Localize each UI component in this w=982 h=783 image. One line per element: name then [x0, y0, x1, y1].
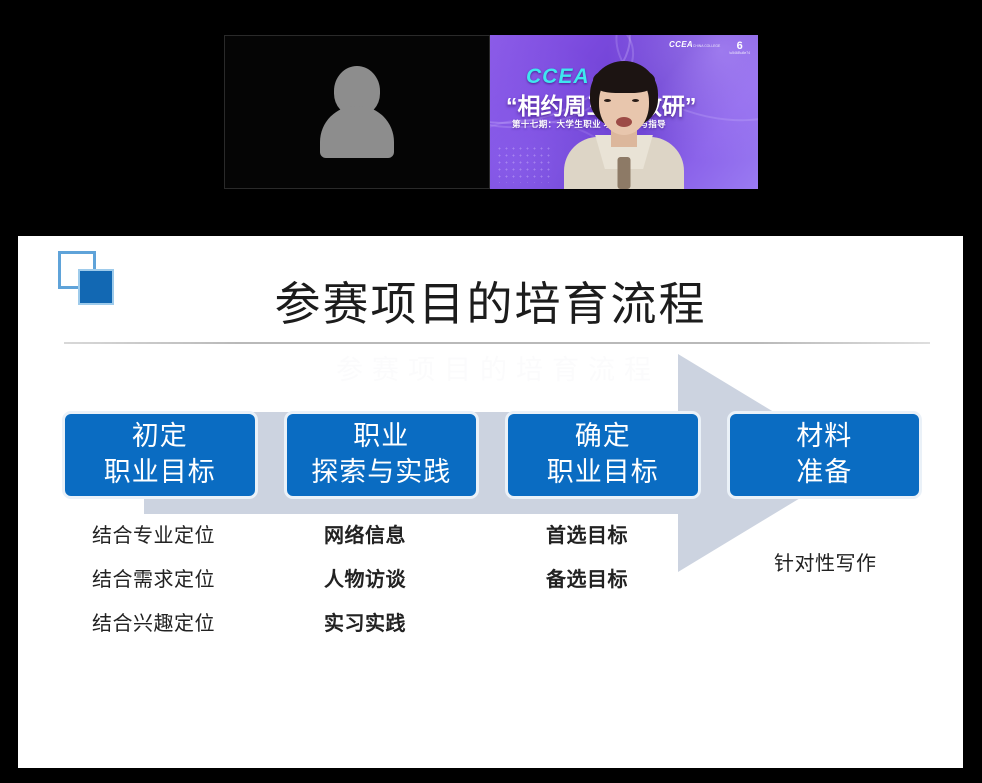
detail-item: 首选目标 — [546, 526, 628, 546]
person-avatar-icon — [320, 66, 394, 158]
step-details-column-4: 针对性写作 — [774, 554, 877, 598]
title-divider — [64, 342, 930, 344]
presenter-eye-right — [632, 99, 639, 102]
video-tile-self[interactable] — [224, 35, 490, 189]
process-step-4-line2: 准备 — [796, 455, 852, 491]
presenter-figure — [560, 61, 688, 189]
process-step-1[interactable]: 初定 职业目标 — [62, 411, 258, 499]
process-step-2-line1: 职业 — [353, 419, 409, 455]
slide-title: 参赛项目的培育流程 — [18, 268, 963, 334]
decorative-dot-grid — [496, 145, 552, 183]
presenter-tie — [618, 157, 631, 189]
detail-item: 针对性写作 — [774, 554, 877, 574]
process-step-2-line2: 探索与实践 — [311, 455, 451, 491]
presenter-mouth — [616, 117, 632, 127]
shared-slide-panel[interactable]: 参赛项目的培育流程 参赛项目的培育流程 初定 职业目标 职业 探索与实践 确定 … — [18, 236, 963, 768]
six-anniversary-icon: 6\u5468\u5e74 — [729, 41, 750, 55]
process-step-1-line2: 职业目标 — [104, 455, 216, 491]
process-step-3[interactable]: 确定 职业目标 — [505, 411, 701, 499]
detail-item: 结合专业定位 — [92, 526, 215, 546]
process-step-4[interactable]: 材料 准备 — [727, 411, 923, 499]
process-step-1-line1: 初定 — [132, 419, 188, 455]
detail-item: 实习实践 — [324, 614, 406, 634]
detail-item: 备选目标 — [546, 570, 628, 590]
presenter-fringe — [593, 67, 655, 93]
step-details-column-3: 首选目标 备选目标 — [546, 526, 628, 614]
presenter-eye-left — [604, 99, 611, 102]
process-steps-row: 初定 职业目标 职业 探索与实践 确定 职业目标 材料 准备 — [62, 411, 922, 499]
detail-item: 结合兴趣定位 — [92, 614, 215, 634]
brand-logos: CCEACHINA COLLEGE 6\u5468\u5e74 — [669, 41, 750, 55]
process-step-3-line1: 确定 — [575, 419, 631, 455]
process-step-3-line2: 职业目标 — [547, 455, 659, 491]
avatar-body — [320, 106, 394, 158]
screen-background: CCEACHINA COLLEGE 6\u5468\u5e74 CCEA “相约… — [0, 0, 982, 783]
process-step-4-line1: 材料 — [796, 419, 852, 455]
video-conference-strip: CCEACHINA COLLEGE 6\u5468\u5e74 CCEA “相约… — [224, 35, 758, 189]
detail-item: 人物访谈 — [324, 570, 406, 590]
detail-item: 结合需求定位 — [92, 570, 215, 590]
step-details-column-1: 结合专业定位 结合需求定位 结合兴趣定位 — [92, 526, 215, 658]
ccea-logo-icon: CCEACHINA COLLEGE — [669, 41, 720, 49]
step-details-column-2: 网络信息 人物访谈 实习实践 — [324, 526, 406, 658]
step-details: 结合专业定位 结合需求定位 结合兴趣定位 网络信息 人物访谈 实习实践 首选目标… — [62, 526, 942, 656]
detail-item: 网络信息 — [324, 526, 406, 546]
process-step-2[interactable]: 职业 探索与实践 — [284, 411, 480, 499]
video-tile-presenter[interactable]: CCEACHINA COLLEGE 6\u5468\u5e74 CCEA “相约… — [490, 35, 758, 189]
